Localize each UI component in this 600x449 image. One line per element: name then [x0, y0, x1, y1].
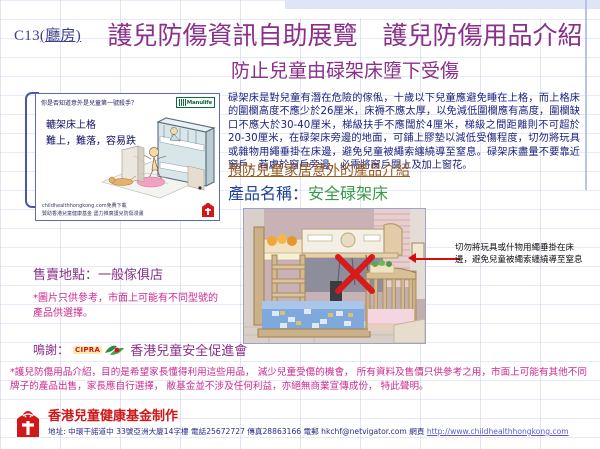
cipra-logo-text: CIPRA — [73, 346, 102, 354]
red-arrow-line — [412, 258, 460, 260]
cartoon-question: 你是否知道意外是兒童第一號殺手？ — [41, 98, 137, 107]
photo-caption: 切勿將玩具或什物用繩垂掛在床邊，避免兒童被繩索纏繞導至窒息 — [455, 243, 583, 267]
footer-address-text: 地址: 中環干諾道中 33號亞洲大廈14字樓 電話25672727 傳真2886… — [48, 427, 427, 436]
cipra-leaf-icon — [104, 343, 126, 357]
bunk-bed-photo — [243, 208, 426, 344]
manulife-logo: Manulife — [176, 97, 215, 108]
page-title: 護兒防傷資訊自助展覽 護兒防傷用品介紹 — [105, 22, 585, 49]
manulife-mark-icon — [179, 99, 186, 106]
chf-logo-icon — [200, 201, 216, 218]
disclaimer-text: 護兒防傷用品介紹，目的是希望家長懂得利用這些用品， 減少兒童受傷的機會， 所有資… — [10, 367, 587, 392]
picture-note: *圖片只供參考，市面上可能有不同型號的產品供選擇。 — [33, 292, 223, 321]
disclaimer: *護兒防傷用品介紹，目的是希望家長懂得利用這些用品， 減少兒童受傷的機會， 所有… — [10, 366, 590, 395]
manulife-logo-text: Manulife — [187, 100, 212, 106]
product-name-label: 產品名稱： — [228, 184, 308, 203]
sell-place-text: 售賣地點：一般傢俱店 — [33, 264, 163, 283]
product-intro-heading: 預防兒童家居意外的產品介紹 — [228, 160, 580, 180]
cipra-logo: CIPRA — [73, 343, 126, 357]
product-name-line: 產品名稱：安全碌架床 — [228, 180, 580, 204]
cartoon-headline-1: 轆架床上格 — [46, 116, 96, 131]
cartoon-card: 你是否知道意外是兒童第一號殺手？ Manulife 轆架床上格 難上，難落，容易… — [35, 93, 220, 221]
top-blue-band — [285, 0, 600, 9]
cartoon-credit-line-2: 贊助香港兒童健康基金 盡力推廣護兒防傷漫畫 — [42, 210, 144, 217]
product-name-value: 安全碌架床 — [308, 184, 388, 203]
cartoon-credit-line-1: childhealthhongkong.com免費下載 — [42, 202, 127, 209]
thanks-row: 鳴謝： CIPRA 香港兒童安全促進會 — [33, 340, 247, 359]
thanks-label: 鳴謝： — [33, 341, 69, 358]
footer-address: 地址: 中環干諾道中 33號亞洲大廈14字樓 電話25672727 傳真2886… — [48, 427, 569, 437]
page-subtitle: 防止兒童由碌架床墮下受傷 — [105, 56, 585, 83]
chf-logo-icon — [14, 408, 42, 438]
footer: 香港兒童健康基金制作 地址: 中環干諾道中 33號亞洲大廈14字樓 電話2567… — [14, 408, 589, 438]
bunk-bed-cartoon-illustration — [96, 112, 218, 200]
footer-texts: 香港兒童健康基金制作 地址: 中環干諾道中 33號亞洲大廈14字樓 電話2567… — [48, 408, 569, 437]
top-white-band — [285, 9, 600, 18]
thanks-organization: 香港兒童安全促進會 — [130, 340, 247, 359]
slide-code-number: C13 — [14, 28, 40, 44]
footer-organization: 香港兒童健康基金制作 — [48, 410, 569, 425]
slide-code-room: (廳房) — [40, 28, 81, 44]
slide-code: C13(廳房) — [14, 24, 81, 45]
right-vertical-rule — [585, 0, 587, 190]
footer-website-link[interactable]: http://www.childhealthhongkong.com — [427, 427, 569, 436]
